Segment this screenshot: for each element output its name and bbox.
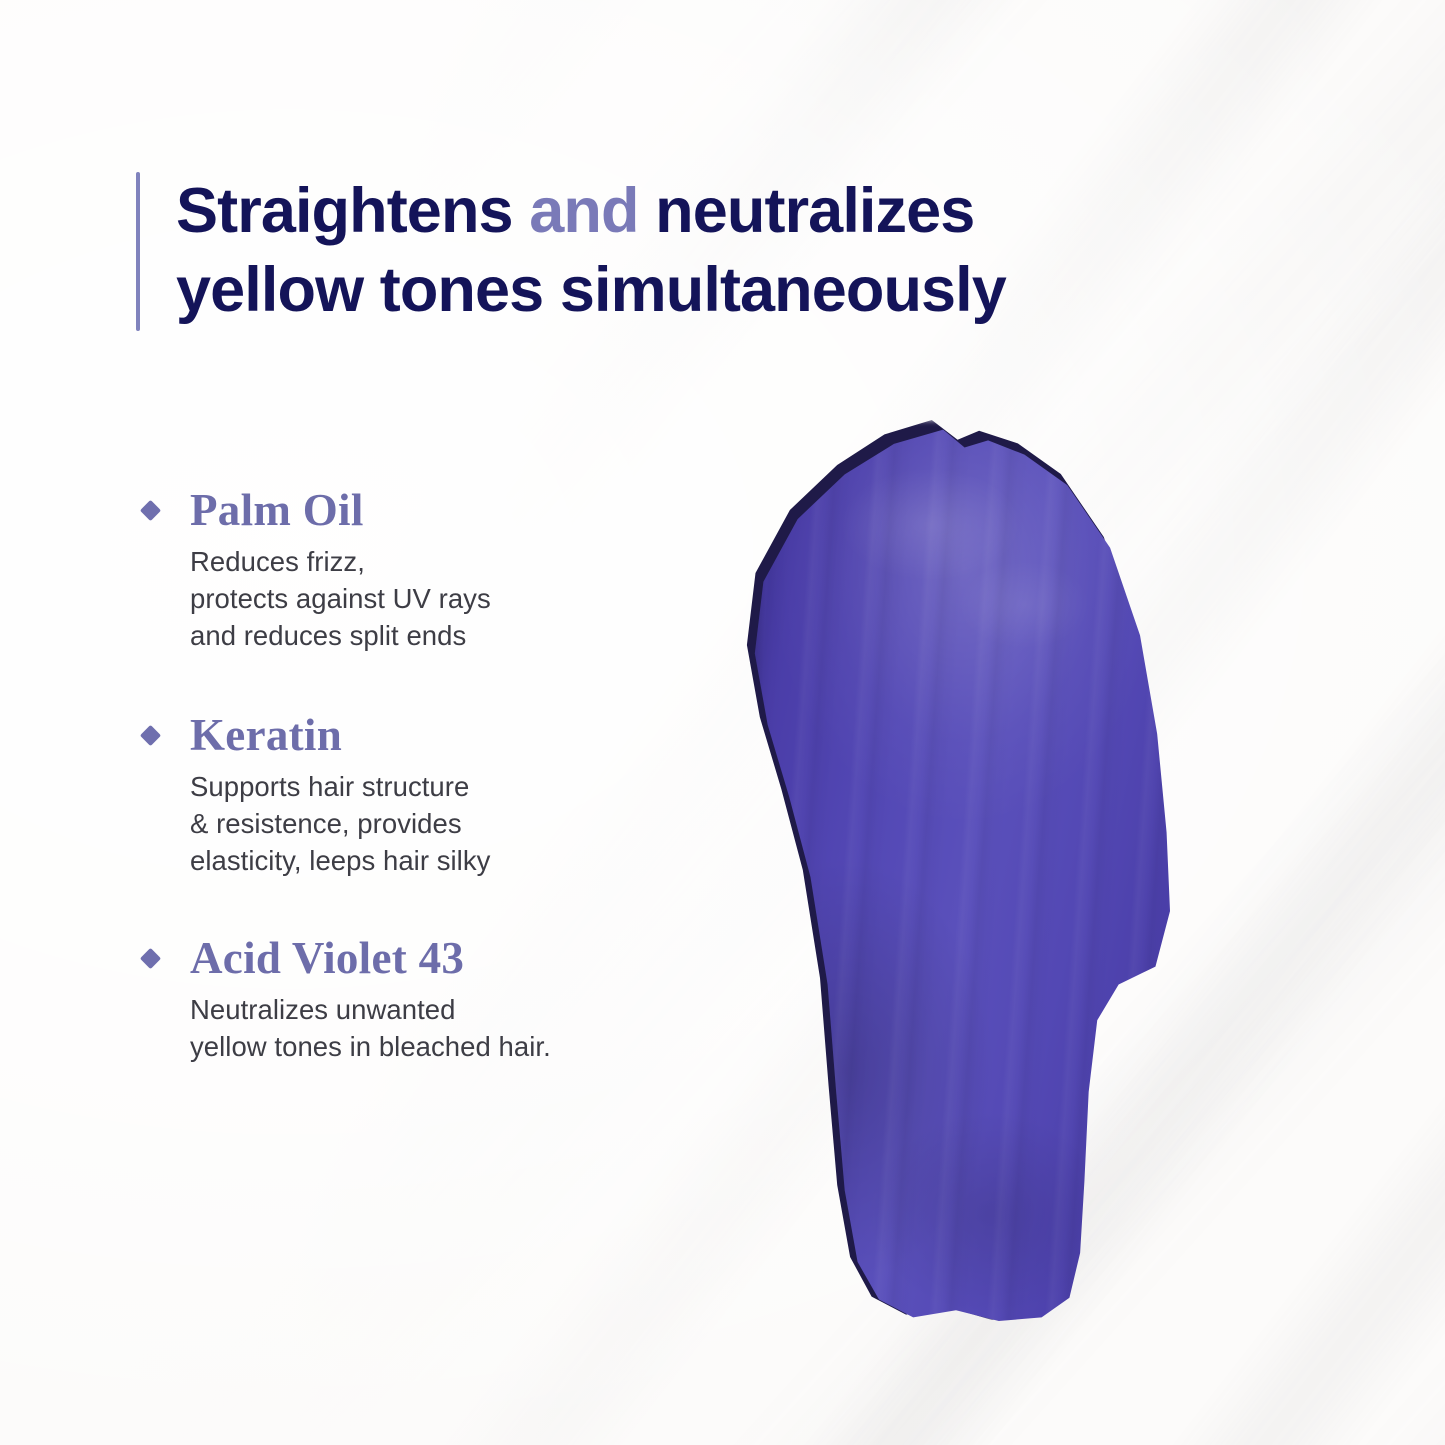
ingredient-description: Reduces frizz, protects against UV rays … [190,544,740,655]
headline-block: Straightens and neutralizes yellow tones… [136,172,1136,331]
product-swatch [700,398,1220,1348]
ingredient-heading-row: Keratin [140,713,740,758]
ingredient-heading-row: Palm Oil [140,488,740,533]
diamond-bullet-icon [140,500,161,521]
diamond-bullet-icon [140,948,161,969]
ingredient-item-acid-violet-43: Acid Violet 43 Neutralizes unwanted yell… [140,936,740,1066]
infographic-canvas: Straightens and neutralizes yellow tones… [0,0,1445,1445]
ingredient-heading-row: Acid Violet 43 [140,936,740,981]
ingredient-item-keratin: Keratin Supports hair structure & resist… [140,713,740,880]
page-title: Straightens and neutralizes yellow tones… [176,172,1096,331]
ingredient-description: Supports hair structure & resistence, pr… [190,769,740,880]
ingredient-list: Palm Oil Reduces frizz, protects against… [140,488,740,1066]
ingredient-title: Acid Violet 43 [190,936,464,981]
ingredient-description: Neutralizes unwanted yellow tones in ble… [190,992,740,1066]
ingredient-title: Keratin [190,713,342,758]
ingredient-title: Palm Oil [190,488,364,533]
headline-highlight-and: and [529,176,638,246]
diamond-bullet-icon [140,725,161,746]
headline-accent-bar [136,172,140,331]
headline-part-1: Straightens [176,176,529,246]
ingredient-item-palm-oil: Palm Oil Reduces frizz, protects against… [140,488,740,655]
